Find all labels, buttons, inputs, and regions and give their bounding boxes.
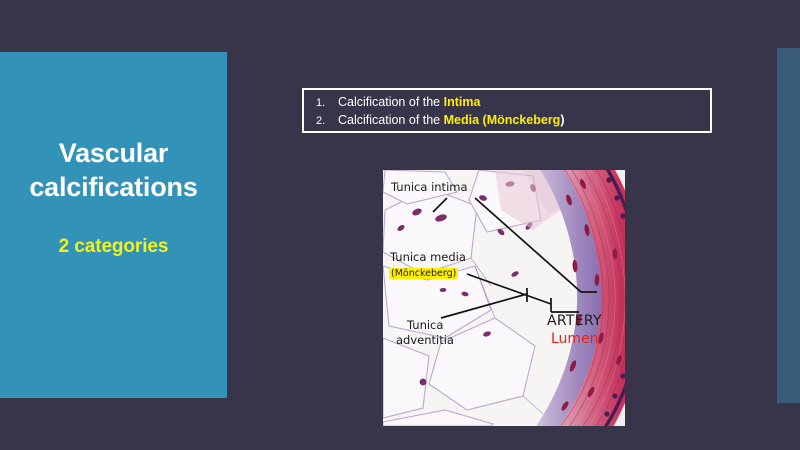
list-item-emphasis: Intima <box>444 95 481 109</box>
categories-list-box: 1.Calcification of the Intima 2.Calcific… <box>302 88 712 133</box>
label-monckeberg: (Mönckeberg) <box>389 268 458 279</box>
title-panel-content: Vascular calcifications 2 categories <box>0 136 227 258</box>
list-item: 1.Calcification of the Intima <box>316 94 710 112</box>
right-accent-bar <box>777 48 800 403</box>
categories-list: 1.Calcification of the Intima 2.Calcific… <box>304 90 710 130</box>
page-title: Vascular calcifications <box>0 136 227 204</box>
histology-micrograph <box>383 170 625 426</box>
page-title-line-1: Vascular <box>10 136 217 170</box>
slide: Vascular calcifications 2 categories 1.C… <box>0 0 800 450</box>
list-item-text: Calcification of the <box>338 95 444 109</box>
list-item-emphasis: Media <box>444 113 479 127</box>
label-artery: ARTERY <box>547 313 602 329</box>
list-item-suffix-tail: ) <box>560 113 564 127</box>
list-item-number: 1. <box>316 95 338 112</box>
label-tunica-adventitia-line-1: Tunica <box>407 318 443 332</box>
label-tunica-intima: Tunica intima <box>391 180 468 194</box>
artery-histology-figure: Tunica intima Tunica media (Mönckeberg) … <box>383 170 625 426</box>
label-lumen: Lumen <box>551 331 599 347</box>
page-subtitle: 2 categories <box>0 236 227 258</box>
list-item-suffix: (Mönckeberg <box>483 113 561 127</box>
list-item-text: Calcification of the <box>338 113 444 127</box>
list-item: 2.Calcification of the Media (Mönckeberg… <box>316 112 710 130</box>
label-tunica-adventitia-line-2: adventitia <box>396 333 454 347</box>
page-title-line-2: calcifications <box>10 170 217 204</box>
label-tunica-media: Tunica media <box>390 250 466 264</box>
title-panel: Vascular calcifications 2 categories <box>0 52 227 398</box>
list-item-number: 2. <box>316 113 338 130</box>
